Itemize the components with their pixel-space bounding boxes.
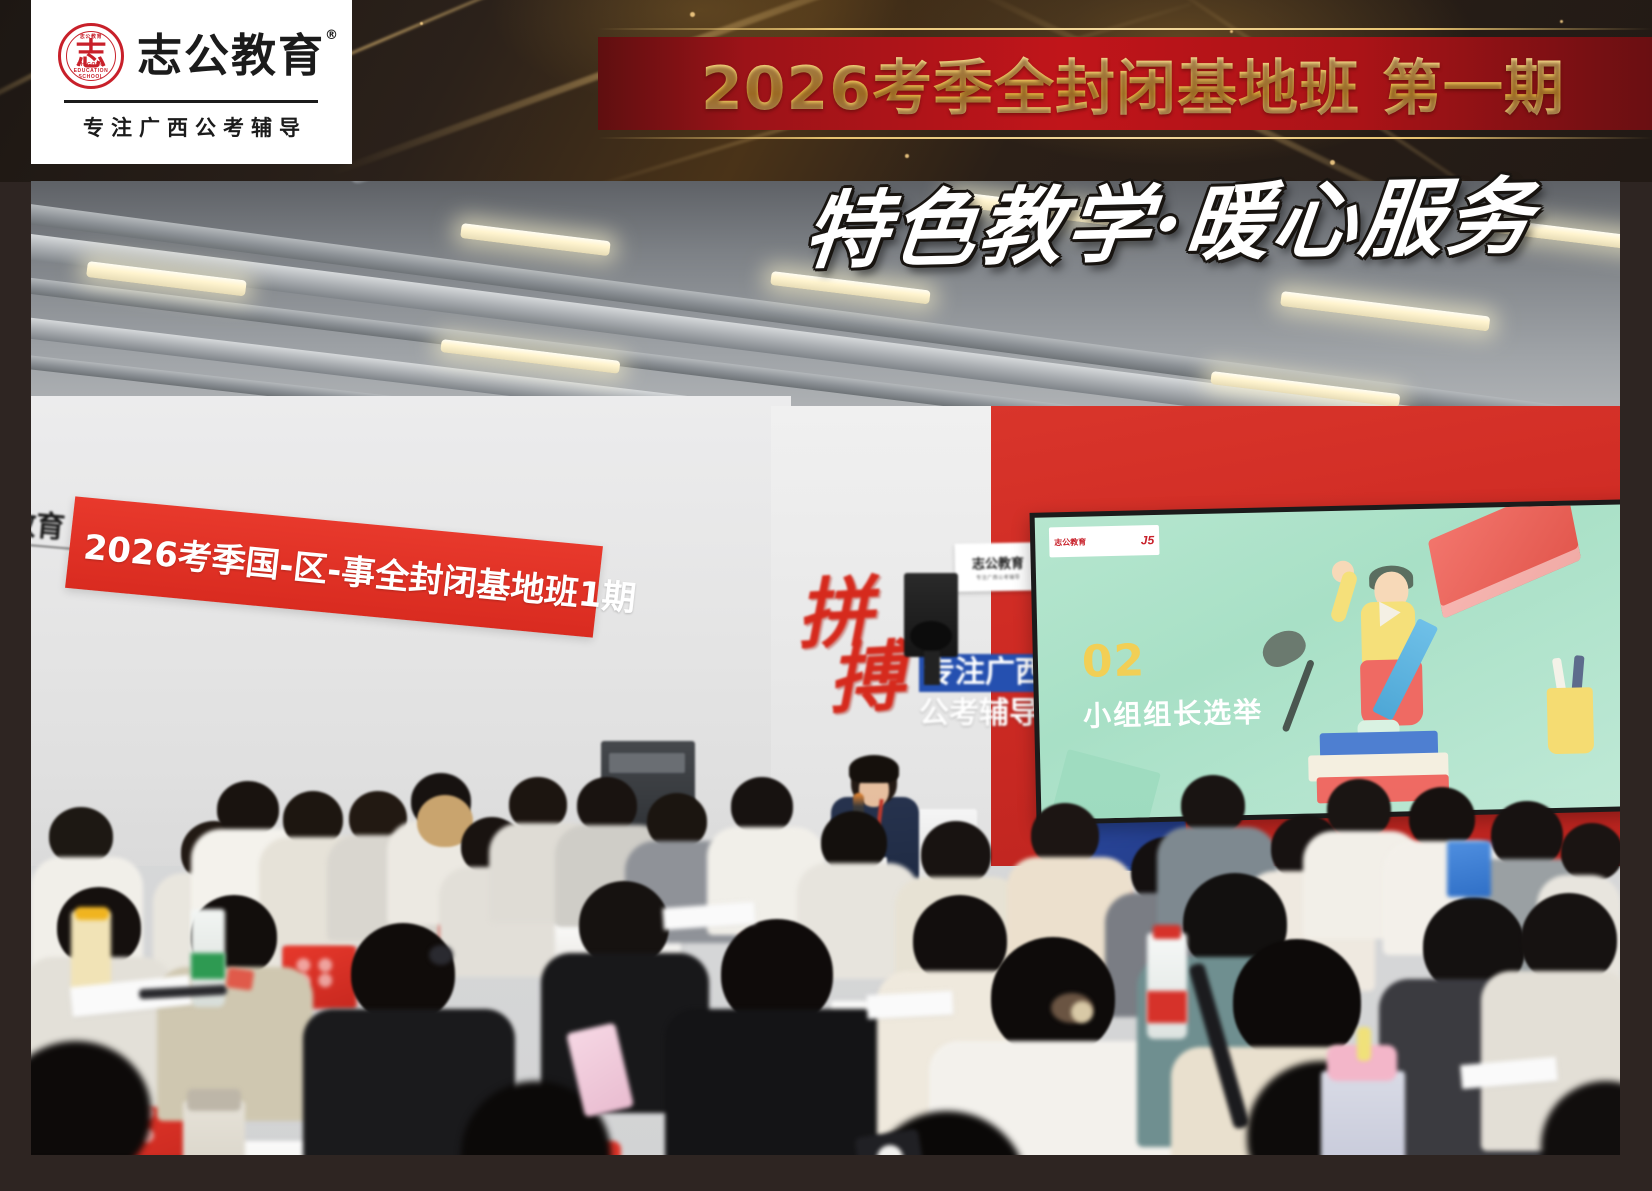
sparkle-dot — [690, 12, 695, 17]
slide-brand-text: 志公教育 — [1054, 536, 1086, 548]
seal-center-glyph: 志 — [75, 40, 106, 71]
speaker-mount-arm — [924, 651, 940, 685]
brand-name: 志公教育 ® — [137, 33, 325, 78]
slide-brand-mark: J5 — [1141, 533, 1155, 547]
thermos-lid — [187, 1089, 241, 1111]
wall-sign-sub: 专注广西公考辅导 — [976, 574, 1020, 582]
hair-tie — [429, 945, 453, 965]
illustration-pen-cup — [1547, 687, 1594, 754]
wall-sign-title: 志公教育 — [972, 553, 1024, 573]
bottle-label — [191, 953, 225, 979]
page-title: 2026考季全封闭基地班 第一期 — [685, 40, 1565, 127]
wall-corner-logo-text: 教育 — [31, 506, 66, 545]
subtitle-calligraphy: 特色教学·暖心服务 — [799, 149, 1541, 285]
classroom-photo: 教育 辅导 2026考季国-区-事全封闭基地班1期 拼 搏 志公教育 专注广西公… — [31, 181, 1620, 1155]
audience-torso — [665, 1009, 893, 1155]
sparkle-dot — [905, 154, 909, 158]
bottle-cap — [1153, 925, 1181, 939]
illustration-book-red — [1428, 504, 1581, 619]
sparkle-dot — [1230, 30, 1233, 33]
sparkle-dot — [1560, 20, 1563, 23]
brand-name-text: 志公教育 — [137, 29, 325, 82]
registered-mark-icon: ® — [325, 29, 340, 42]
illustration-lamp-head — [1257, 624, 1311, 673]
bottle-label — [1147, 991, 1187, 1023]
audience-head — [1561, 823, 1620, 881]
hair-clip — [1071, 1001, 1093, 1023]
carton-pack — [1447, 841, 1491, 897]
slide-brand-badge: 志公教育 J5 — [1049, 525, 1160, 557]
audience-head — [1409, 787, 1475, 849]
slide-number: 02 — [1081, 635, 1145, 687]
audience-head — [351, 923, 455, 1023]
sparkle-dot — [420, 22, 423, 25]
logo-divider — [64, 100, 318, 103]
audience-head — [1181, 775, 1245, 835]
audience-head — [991, 937, 1115, 1057]
brand-logo-card: 志公教育 志 ZHIGONG EDUCATION SCHOOL 志公教育 ® 专… — [31, 0, 352, 164]
thermos-cup — [71, 911, 111, 993]
water-bottle — [1147, 933, 1187, 1039]
wall-sign: 志公教育 专注广西公考辅导 — [955, 542, 1042, 591]
audience-head — [1327, 779, 1391, 839]
illustration-lamp-arm — [1282, 659, 1315, 733]
paper-sheet — [866, 991, 953, 1019]
tumbler-straw — [1357, 1027, 1371, 1061]
seal-logo-icon: 志公教育 志 ZHIGONG EDUCATION SCHOOL — [58, 23, 124, 89]
eraser — [226, 967, 255, 990]
slide-title: 小组组长选举 — [1083, 691, 1264, 735]
brand-tagline: 专注广西公考辅导 — [76, 112, 307, 142]
ceiling-speaker-box — [904, 573, 958, 657]
poster-root: 志公教育 志 ZHIGONG EDUCATION SCHOOL 志公教育 ® 专… — [0, 0, 1652, 1191]
tumbler-bottle — [1321, 1071, 1405, 1155]
main-title-banner: 2026考季全封闭基地班 第一期 — [598, 37, 1652, 130]
thermos-lid — [75, 907, 109, 920]
